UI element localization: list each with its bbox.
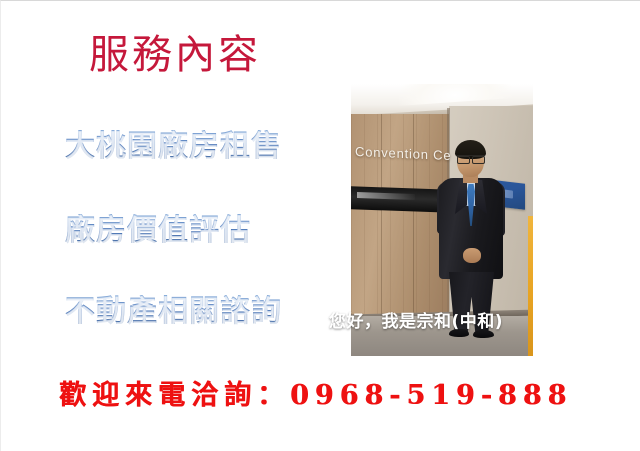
photo-person-hands	[463, 248, 481, 263]
service-item-3: 不動產相關諮詢	[65, 295, 282, 328]
contact-phone-banner: 歡迎來電洽詢：0968-519-888	[59, 373, 572, 412]
glasses-icon	[456, 155, 485, 163]
service-item-1: 大桃園廠房租售	[65, 130, 282, 163]
photo-caption: 您好，我是宗和(中和)	[329, 307, 503, 332]
page-title: 服務內容	[89, 33, 261, 77]
slide-canvas: 服務內容 大桃園廠房租售 廠房價值評估 不動產相關諮詢 Convention C…	[0, 0, 640, 451]
photo-accent-strip	[528, 216, 533, 356]
photo-wood-seam	[413, 114, 414, 320]
service-item-2: 廠房價值評估	[65, 214, 251, 247]
